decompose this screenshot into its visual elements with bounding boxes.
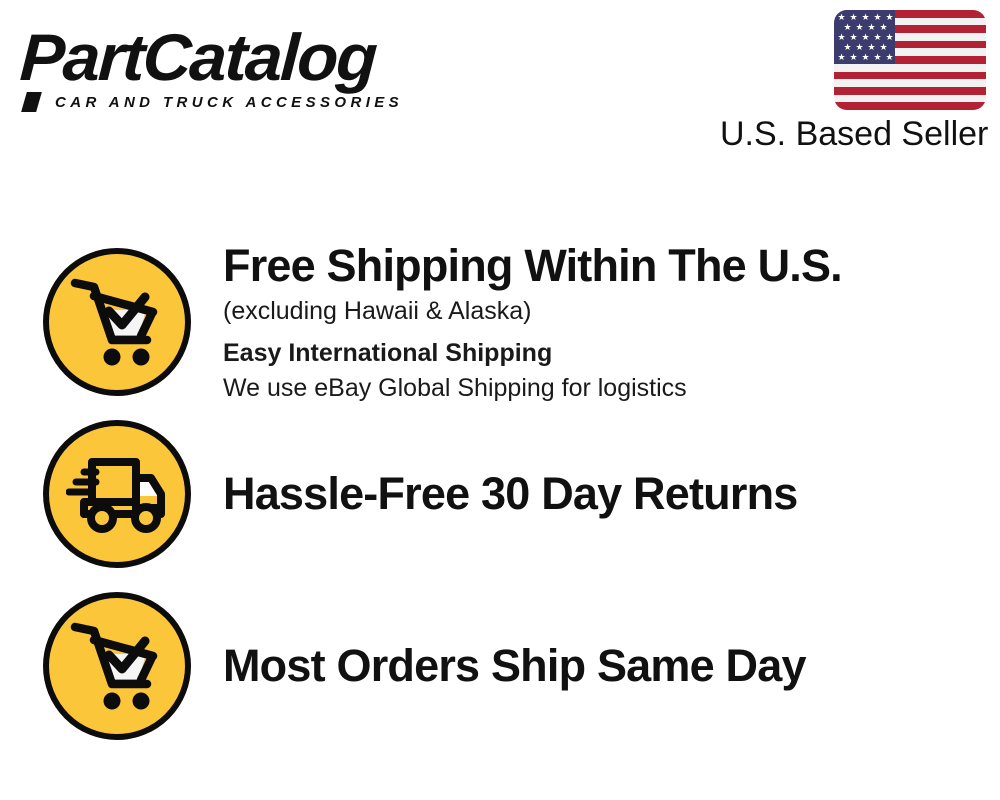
brand-tagline-row: CAR AND TRUCK ACCESSORIES: [24, 92, 403, 112]
flag-canton: ★ ★ ★ ★ ★ ★ ★ ★ ★ ★ ★ ★ ★ ★ ★ ★ ★ ★ ★ ★: [834, 10, 895, 64]
feature-row: Hassle-Free 30 Day Returns: [0, 420, 1000, 568]
feature-subheading: Easy International Shipping: [223, 336, 1000, 370]
feature-headline: Most Orders Ship Same Day: [223, 640, 1000, 692]
feature-row: Free Shipping Within The U.S. (excluding…: [0, 248, 1000, 396]
page-header: PartCatalog CAR AND TRUCK ACCESSORIES ★ …: [0, 0, 1000, 175]
feature-row: Most Orders Ship Same Day: [0, 592, 1000, 740]
delivery-truck-icon: [43, 420, 191, 568]
brand-wordmark: PartCatalog: [18, 24, 501, 90]
shopping-cart-check-icon: [43, 592, 191, 740]
shopping-cart-check-glyph: [67, 618, 167, 714]
brand-slash-mark: [21, 92, 42, 112]
shopping-cart-check-icon: [43, 248, 191, 396]
feature-headline: Hassle-Free 30 Day Returns: [223, 468, 1000, 520]
feature-headline: Free Shipping Within The U.S.: [223, 240, 1000, 292]
feature-subtext: We use eBay Global Shipping for logistic…: [223, 371, 1000, 405]
brand-tagline: CAR AND TRUCK ACCESSORIES: [55, 94, 403, 111]
seller-badge-label: U.S. Based Seller: [720, 114, 986, 154]
seller-badge: ★ ★ ★ ★ ★ ★ ★ ★ ★ ★ ★ ★ ★ ★ ★ ★ ★ ★ ★ ★: [720, 10, 986, 154]
shopping-cart-check-glyph: [67, 274, 167, 370]
feature-text-block: Hassle-Free 30 Day Returns: [223, 468, 1000, 520]
feature-text-block: Free Shipping Within The U.S. (excluding…: [223, 240, 1000, 405]
brand-logo[interactable]: PartCatalog CAR AND TRUCK ACCESSORIES: [22, 24, 492, 114]
feature-text-block: Most Orders Ship Same Day: [223, 640, 1000, 692]
delivery-truck-glyph: [66, 452, 168, 536]
us-flag-icon: ★ ★ ★ ★ ★ ★ ★ ★ ★ ★ ★ ★ ★ ★ ★ ★ ★ ★ ★ ★: [834, 10, 986, 110]
feature-subnote: (excluding Hawaii & Alaska): [223, 294, 1000, 328]
